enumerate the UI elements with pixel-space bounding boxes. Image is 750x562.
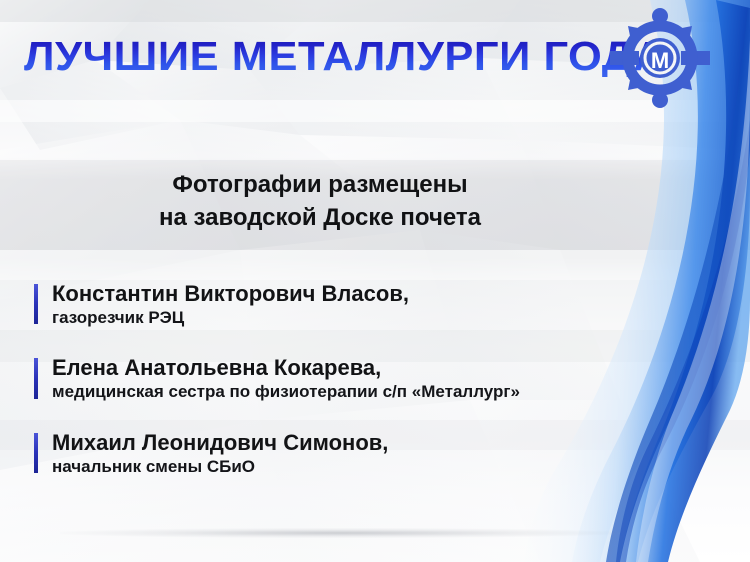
accent-bar-icon	[34, 433, 38, 473]
honoree-role: медицинская сестра по физиотерапии с/п «…	[52, 382, 724, 402]
accent-bar-icon	[34, 358, 38, 398]
honoree-role: газорезчик РЭЦ	[52, 308, 724, 328]
header-band: ЛУЧШИЕ МЕТАЛЛУРГИ ГОДА	[0, 0, 750, 112]
honoree-name: Елена Анатольевна Кокарева,	[52, 355, 724, 381]
slide-canvas: ЛУЧШИЕ МЕТАЛЛУРГИ ГОДА	[0, 0, 750, 562]
accent-bar-icon	[34, 284, 38, 324]
subtitle-line-2: на заводской Доске почета	[0, 201, 640, 234]
list-item: Константин Викторович Власов, газорезчик…	[34, 281, 724, 328]
list-item: Елена Анатольевна Кокарева, медицинская …	[34, 355, 724, 402]
list-item: Михаил Леонидович Симонов, начальник сме…	[34, 430, 724, 477]
honoree-list: Константин Викторович Власов, газорезчик…	[34, 281, 724, 477]
honoree-role: начальник смены СБиО	[52, 457, 724, 477]
honoree-name: Константин Викторович Власов,	[52, 281, 724, 307]
logo-center-letter: М	[651, 48, 669, 73]
subtitle-line-1: Фотографии размещены	[0, 168, 640, 201]
page-title: ЛУЧШИЕ МЕТАЛЛУРГИ ГОДА	[24, 36, 665, 77]
omz-emblem-icon: М	[608, 6, 712, 110]
bottom-shadow-divider	[60, 528, 620, 538]
honoree-name: Михаил Леонидович Симонов,	[52, 430, 724, 456]
subtitle: Фотографии размещены на заводской Доске …	[0, 168, 640, 234]
